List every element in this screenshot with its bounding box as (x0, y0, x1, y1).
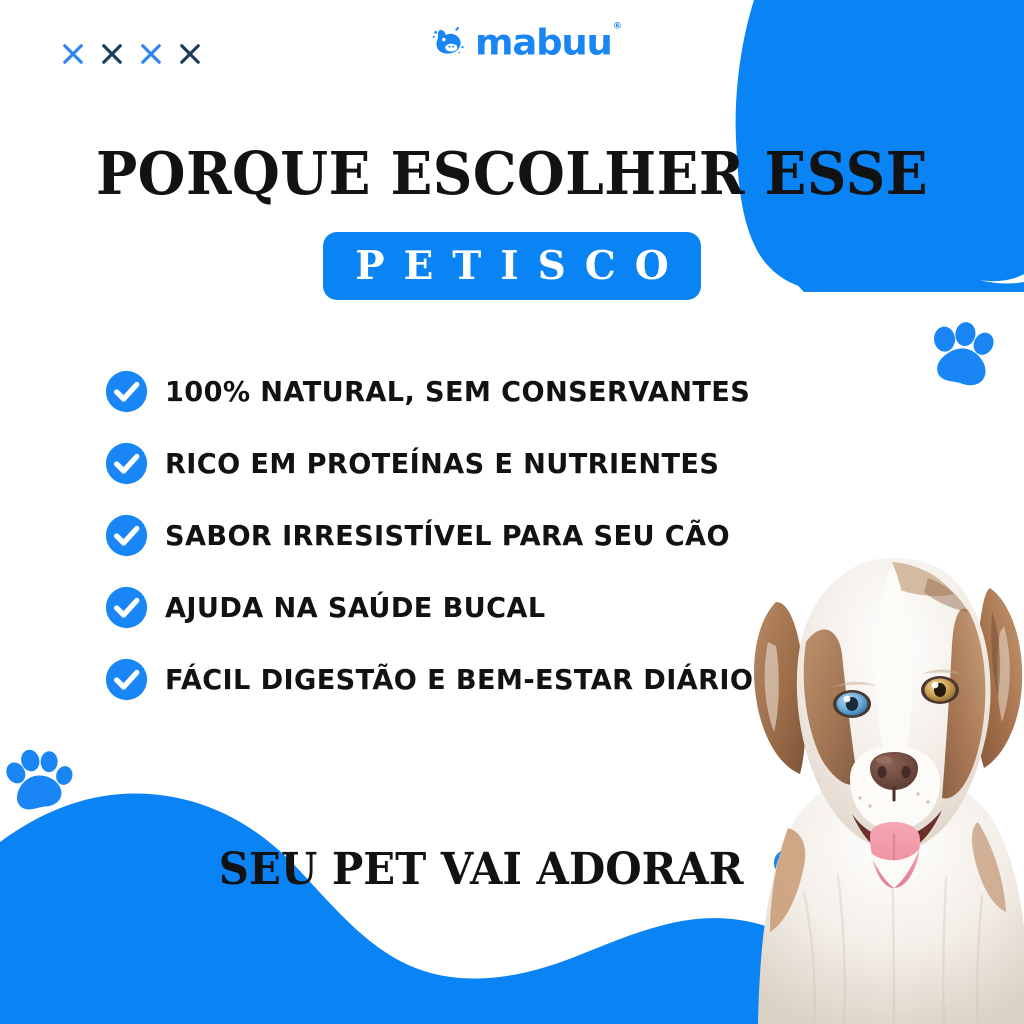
dog-photo (742, 492, 1024, 1024)
check-circle-icon (104, 369, 149, 414)
paw-print-icon (4, 748, 80, 820)
x-marks-row (62, 43, 201, 65)
page-title: PORQUE ESCOLHER ESSE (36, 144, 988, 203)
feature-label: FÁCIL DIGESTÃO E BEM-ESTAR DIÁRIO (165, 666, 753, 694)
x-mark-4-icon (179, 43, 201, 65)
brand-logo: mabuu ® (431, 21, 612, 63)
petisco-badge-label: PETISCO (336, 247, 688, 286)
blob-bottom-left (0, 793, 910, 1024)
call-to-action: SEU PET VAI ADORAR (0, 848, 1024, 892)
feature-label: AJUDA NA SAÚDE BUCAL (165, 594, 546, 622)
check-circle-icon (104, 513, 149, 558)
petisco-badge: PETISCO (323, 232, 701, 300)
feature-item: FÁCIL DIGESTÃO E BEM-ESTAR DIÁRIO (104, 656, 772, 703)
check-circle-icon (104, 441, 149, 486)
feature-item: 100% NATURAL, SEM CONSERVANTES (104, 368, 772, 415)
feature-item: AJUDA NA SAÚDE BUCAL (104, 584, 772, 631)
check-circle-icon (104, 585, 149, 630)
feature-label: 100% NATURAL, SEM CONSERVANTES (165, 378, 750, 406)
dog-eye-right (921, 676, 959, 704)
feature-label: SABOR IRRESISTÍVEL PARA SEU CÃO (165, 522, 730, 550)
feature-list: 100% NATURAL, SEM CONSERVANTES RICO EM P… (104, 368, 772, 703)
dog-eye-left (833, 690, 871, 718)
heart-icon (772, 848, 819, 892)
x-mark-3-icon (140, 43, 162, 65)
x-mark-1-icon (62, 43, 84, 65)
feature-label: RICO EM PROTEÍNAS E NUTRIENTES (165, 450, 719, 478)
promo-poster: mabuu ® PORQUE ESCOLHER ESSE PETISCO 100… (0, 0, 1024, 1024)
registered-mark: ® (613, 22, 621, 31)
feature-item: RICO EM PROTEÍNAS E NUTRIENTES (104, 440, 772, 487)
logo-wordmark-text: mabuu (475, 21, 612, 62)
x-mark-2-icon (101, 43, 123, 65)
paw-print-icon (921, 322, 1003, 398)
cta-label: SEU PET VAI ADORAR (219, 848, 744, 892)
dog-head-icon (431, 24, 468, 61)
feature-item: SABOR IRRESISTÍVEL PARA SEU CÃO (104, 512, 772, 559)
logo-wordmark: mabuu ® (475, 24, 612, 60)
check-circle-icon (104, 657, 149, 702)
